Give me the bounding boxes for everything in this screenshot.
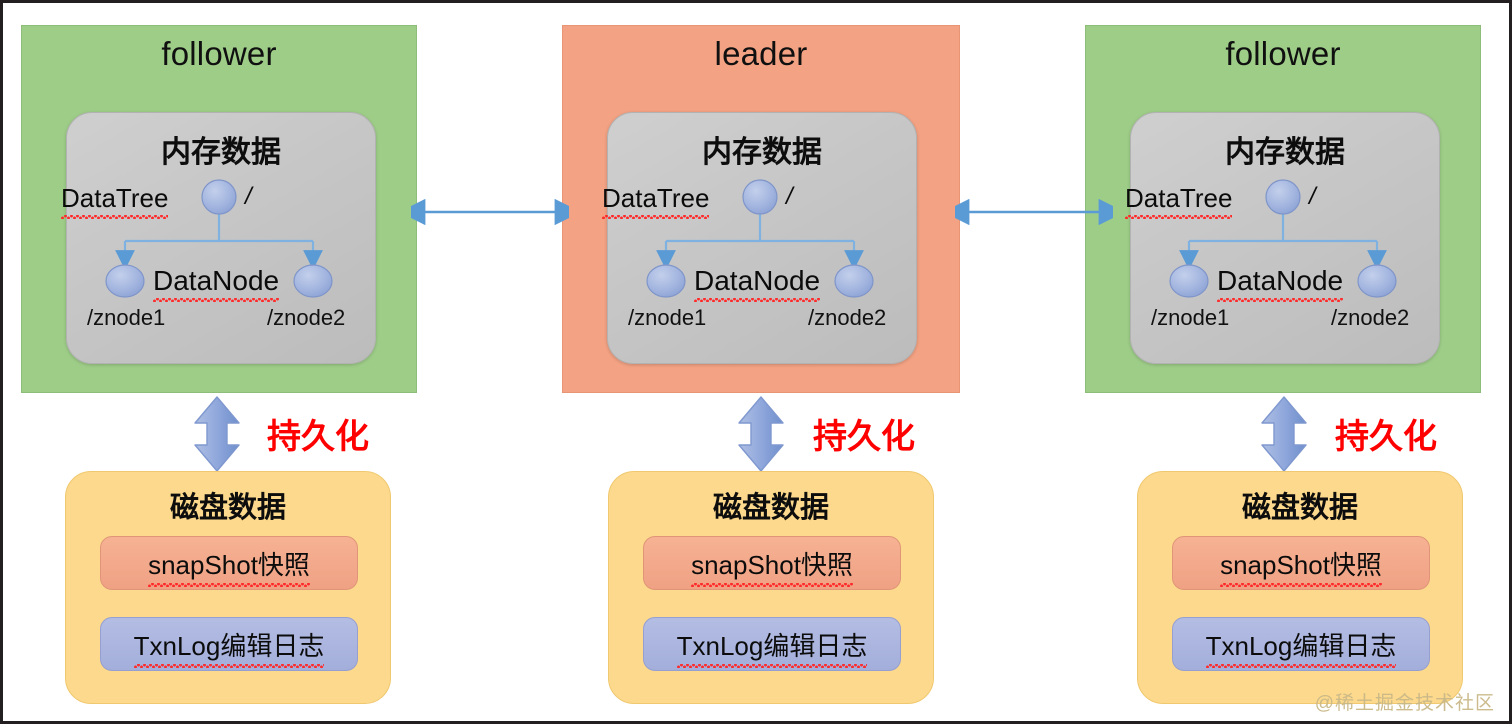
disk-data-box-left: 磁盘数据 snapShot快照 TxnLog编辑日志 bbox=[65, 471, 391, 704]
double-arrow-horizontal-icon bbox=[411, 195, 569, 229]
persist-arrow-center bbox=[734, 395, 788, 478]
snapshot-label-wrap: snapShot快照 bbox=[1220, 545, 1382, 582]
server-box-follower-left: follower 内存数据 bbox=[21, 25, 417, 393]
znode2-label: /znode2 bbox=[267, 305, 345, 331]
server-box-follower-right: follower 内存数据 bbox=[1085, 25, 1481, 393]
snapshot-label-wrap: snapShot快照 bbox=[148, 545, 310, 582]
root-znode-label: / bbox=[1309, 183, 1316, 211]
double-arrow-horizontal-icon bbox=[955, 195, 1113, 229]
znode1-label: /znode1 bbox=[628, 305, 706, 331]
disk-item-snapshot: snapShot快照 bbox=[1172, 536, 1430, 590]
txnlog-label-wrap: TxnLog编辑日志 bbox=[677, 626, 868, 663]
disk-data-box-right: 磁盘数据 snapShot快照 TxnLog编辑日志 bbox=[1137, 471, 1463, 704]
disk-title: 磁盘数据 bbox=[1138, 484, 1462, 526]
sync-arrow-leader-right bbox=[955, 195, 1113, 234]
disk-title: 磁盘数据 bbox=[609, 484, 933, 526]
root-znode-label: / bbox=[786, 183, 793, 211]
persist-label-right: 持久化 bbox=[1335, 409, 1437, 458]
disk-item-txnlog: TxnLog编辑日志 bbox=[643, 617, 901, 671]
znode2-label: /znode2 bbox=[808, 305, 886, 331]
snapshot-label-wrap: snapShot快照 bbox=[691, 545, 853, 582]
znode1-label: /znode1 bbox=[1151, 305, 1229, 331]
disk-title: 磁盘数据 bbox=[66, 484, 390, 526]
disk-data-box-center: 磁盘数据 snapShot快照 TxnLog编辑日志 bbox=[608, 471, 934, 704]
double-arrow-vertical-icon bbox=[1257, 395, 1311, 473]
persist-arrow-left bbox=[190, 395, 244, 478]
datatree-graphic: DataTree / DataNode /znode1 /znode2 bbox=[608, 113, 916, 363]
txnlog-label-wrap: TxnLog编辑日志 bbox=[1206, 626, 1397, 663]
disk-item-txnlog: TxnLog编辑日志 bbox=[100, 617, 358, 671]
diagram-canvas: follower 内存数据 bbox=[0, 0, 1512, 724]
disk-item-snapshot: snapShot快照 bbox=[100, 536, 358, 590]
memory-data-box: 内存数据 bbox=[66, 112, 376, 364]
watermark: @稀土掘金技术社区 bbox=[1315, 688, 1495, 715]
datanode-label: DataNode bbox=[694, 265, 820, 297]
double-arrow-vertical-icon bbox=[190, 395, 244, 473]
root-znode-label: / bbox=[245, 183, 252, 211]
server-role-label: follower bbox=[22, 34, 416, 74]
datatree-label: DataTree bbox=[602, 183, 709, 214]
txnlog-label-wrap: TxnLog编辑日志 bbox=[134, 626, 325, 663]
persist-arrow-right bbox=[1257, 395, 1311, 478]
datatree-label: DataTree bbox=[1125, 183, 1232, 214]
server-role-label: follower bbox=[1086, 34, 1480, 74]
memory-data-box: 内存数据 bbox=[607, 112, 917, 364]
server-box-leader: leader 内存数据 bbox=[562, 25, 960, 393]
double-arrow-vertical-icon bbox=[734, 395, 788, 473]
datatree-label: DataTree bbox=[61, 183, 168, 214]
znode1-label: /znode1 bbox=[87, 305, 165, 331]
server-role-label: leader bbox=[563, 34, 959, 74]
disk-item-snapshot: snapShot快照 bbox=[643, 536, 901, 590]
memory-data-box: 内存数据 bbox=[1130, 112, 1440, 364]
datatree-graphic: DataTree / DataNode /znode1 /znode2 bbox=[1131, 113, 1439, 363]
disk-item-txnlog: TxnLog编辑日志 bbox=[1172, 617, 1430, 671]
sync-arrow-left-leader bbox=[411, 195, 569, 234]
datatree-graphic: DataTree / DataNode /znode1 /znode2 bbox=[67, 113, 375, 363]
persist-label-center: 持久化 bbox=[813, 409, 915, 458]
znode2-label: /znode2 bbox=[1331, 305, 1409, 331]
datanode-label: DataNode bbox=[1217, 265, 1343, 297]
datanode-label: DataNode bbox=[153, 265, 279, 297]
persist-label-left: 持久化 bbox=[267, 409, 369, 458]
